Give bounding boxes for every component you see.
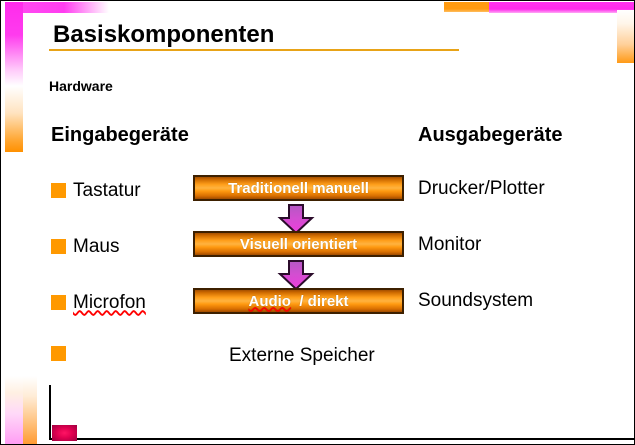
output-device-label-0: Drucker/Plotter [418,178,545,200]
decor-left-bottom-magenta-strip [5,376,23,444]
interaction-bar-label: Visuell orientiert [240,236,357,253]
interaction-bar-audio[interactable]: Audio / direkt [193,288,404,314]
output-devices-heading: Ausgabegeräte [418,124,563,147]
decor-top-left-magenta-bar [9,2,109,13]
decor-top-right-magenta-bar [489,2,635,13]
output-device-label-2: Soundsystem [418,290,533,312]
interaction-bar-label: Audio / direkt [248,293,348,310]
slide-title: Basiskomponenten [53,21,274,49]
section-subheading: Hardware [49,78,113,94]
list-item-input-2: Microfon [51,289,146,315]
interaction-bar-misspelled-word: Audio [248,293,291,310]
external-storage-label: Externe Speicher [229,345,375,367]
input-device-label: Tastatur [73,181,141,200]
corner-accent-square [52,425,77,441]
interaction-bar-traditionell[interactable]: Traditionell manuell [193,175,404,201]
down-arrow-icon-2 [277,260,315,290]
title-underline-rule [49,49,459,51]
frame-vertical-rule [49,385,51,438]
list-item-input-1: Maus [51,233,119,259]
list-item-input-0: Tastatur [51,177,141,203]
input-devices-heading: Eingabegeräte [51,124,189,147]
frame-horizontal-rule [49,438,634,440]
output-device-label-1: Monitor [418,234,481,256]
decor-left-gradient-strip [5,2,23,152]
bullet-square-icon-standalone [51,346,66,361]
slide-canvas: Basiskomponenten Hardware Eingabegeräte … [0,0,635,445]
bullet-square-icon [51,183,66,198]
interaction-bar-label: Traditionell manuell [228,180,369,197]
bullet-square-icon [51,295,66,310]
decor-right-gradient-strip [617,10,635,63]
bullet-square-icon [51,239,66,254]
input-device-label: Maus [73,237,119,256]
decor-top-right-orange-bar [444,2,489,12]
input-device-label: Microfon [73,293,146,312]
down-arrow-icon-1 [277,204,315,234]
decor-left-bottom-orange-strip [23,376,37,444]
interaction-bar-label-rest: / direkt [291,293,349,310]
interaction-bar-visuell[interactable]: Visuell orientiert [193,231,404,257]
